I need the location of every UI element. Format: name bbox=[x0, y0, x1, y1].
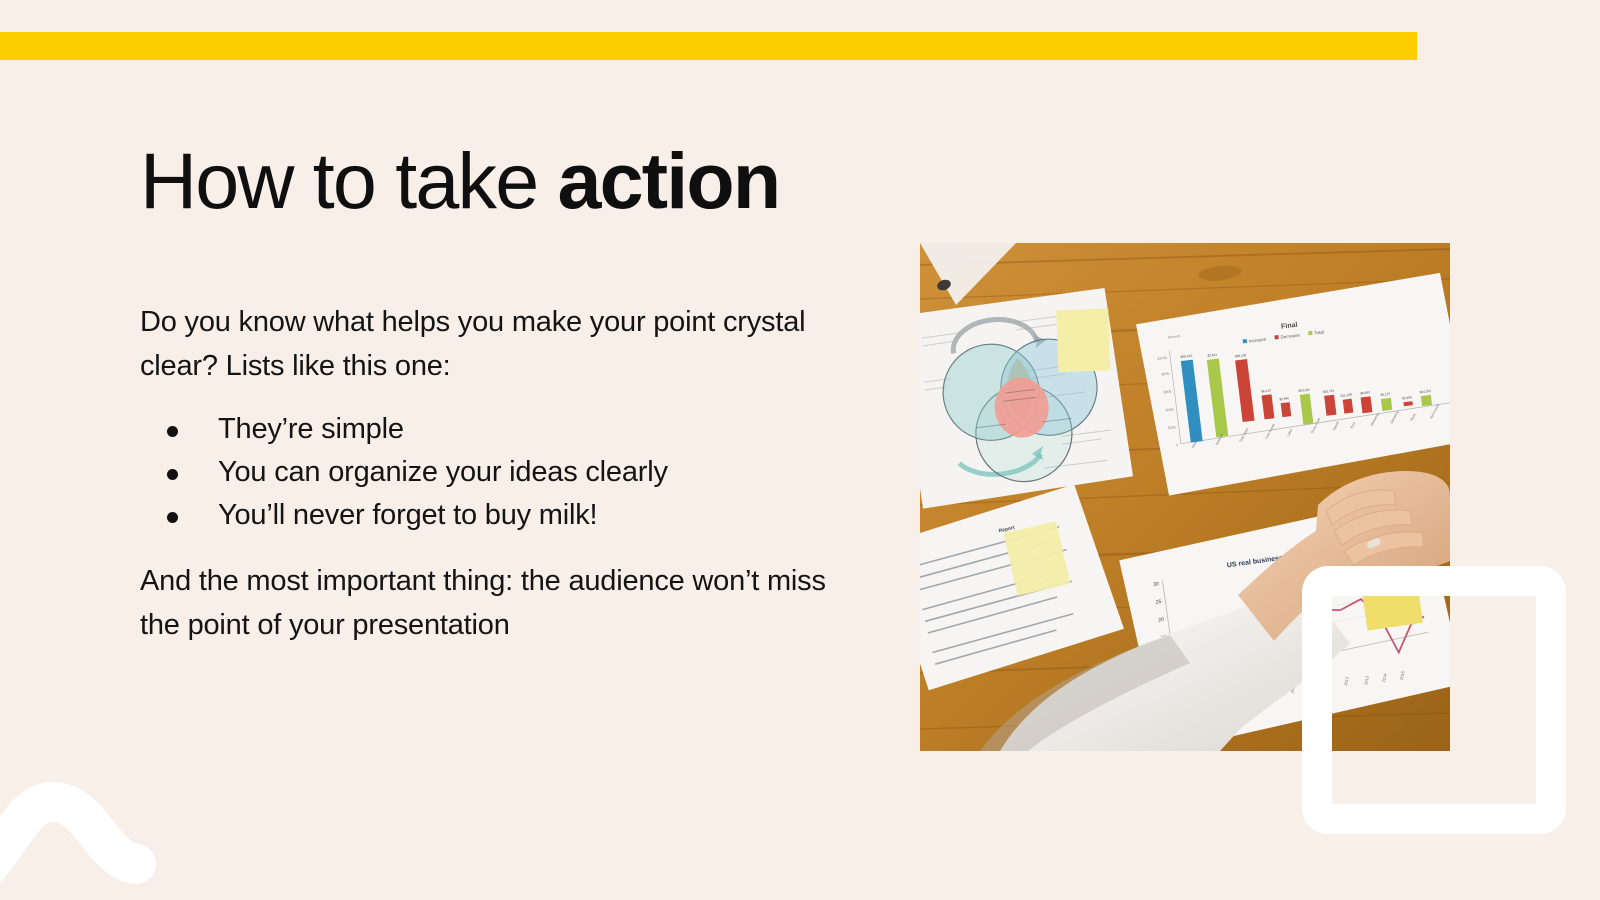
bullet-dot-icon bbox=[167, 426, 178, 437]
page-title-bold-part: action bbox=[558, 136, 780, 225]
list-item: You can organize your ideas clearly bbox=[140, 451, 860, 494]
intro-paragraph: Do you know what helps you make your poi… bbox=[140, 300, 860, 388]
list-item-label: You can organize your ideas clearly bbox=[218, 456, 668, 488]
list-item-label: They’re simple bbox=[218, 413, 404, 445]
svg-text:20: 20 bbox=[1158, 617, 1165, 624]
page-title: How to take action bbox=[140, 141, 779, 220]
desk-photo: Final Increase Decrease Total 0 $20k $40… bbox=[920, 243, 1450, 751]
bullet-dot-icon bbox=[167, 469, 178, 480]
closing-paragraph: And the most important thing: the audien… bbox=[140, 559, 860, 647]
desk-photo-illustration: Final Increase Decrease Total 0 $20k $40… bbox=[920, 243, 1450, 751]
wave-decoration-icon bbox=[0, 690, 260, 900]
slide-canvas: How to take action Do you know what help… bbox=[0, 0, 1600, 900]
list-item: You’ll never forget to buy milk! bbox=[140, 494, 860, 537]
bullet-list: They’re simple You can organize your ide… bbox=[140, 408, 860, 537]
top-accent-bar bbox=[0, 32, 1417, 60]
body-copy-block: Do you know what helps you make your poi… bbox=[140, 300, 860, 647]
list-item: They’re simple bbox=[140, 408, 860, 451]
page-title-regular-part: How to take bbox=[140, 136, 558, 225]
svg-text:25: 25 bbox=[1155, 599, 1162, 606]
svg-text:30: 30 bbox=[1153, 581, 1160, 588]
bullet-dot-icon bbox=[167, 512, 178, 523]
list-item-label: You’ll never forget to buy milk! bbox=[218, 499, 597, 531]
